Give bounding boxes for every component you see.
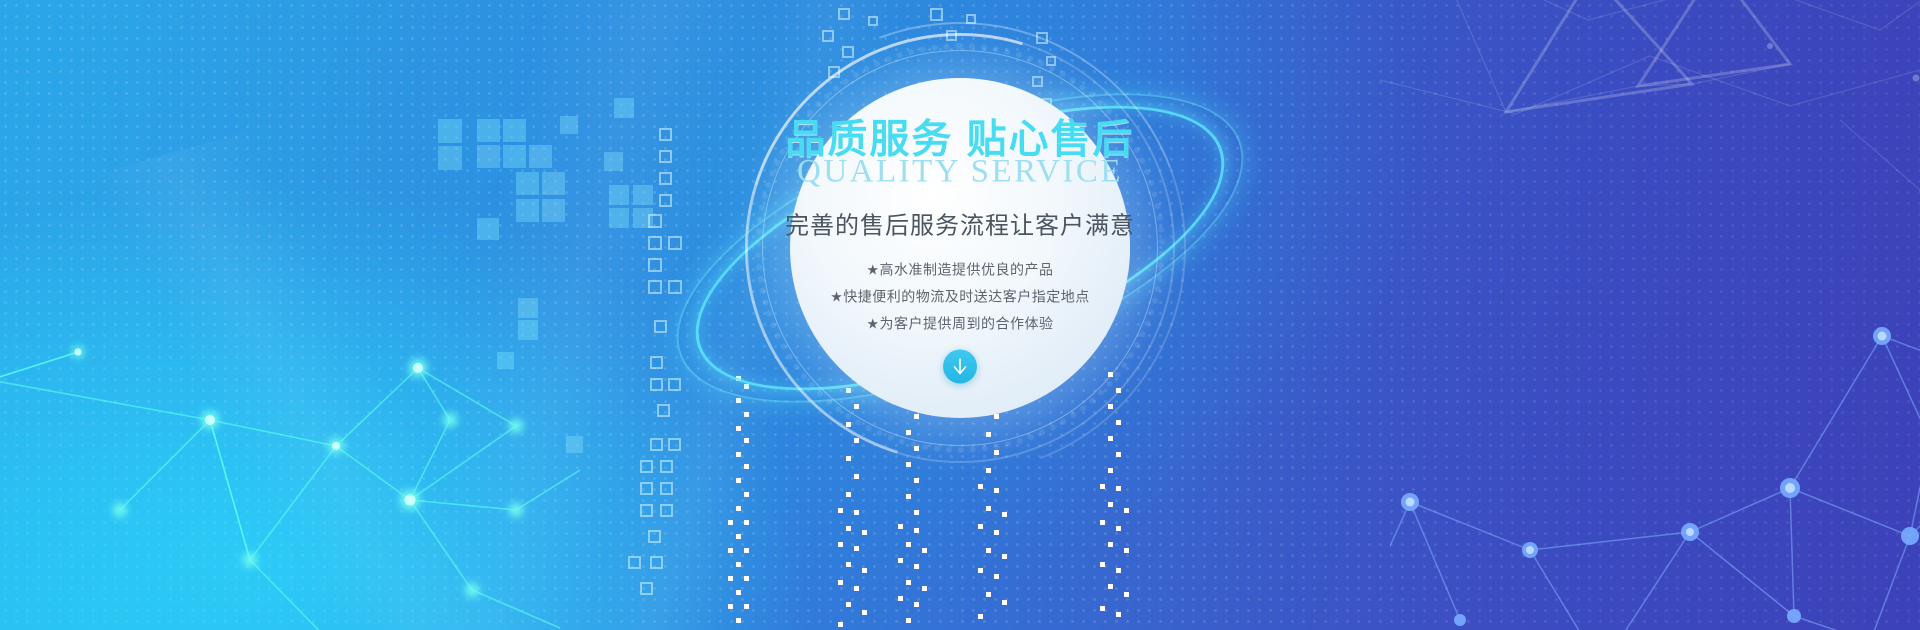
list-item: ★高水准制造提供优良的产品: [730, 257, 1190, 284]
right-vignette: [1160, 0, 1920, 630]
hero-disc: 品质服务 贴心售后 QUALITY SERVICE 完善的售后服务流程让客户满意…: [730, 18, 1190, 478]
arrow-down-icon: [952, 358, 968, 376]
network-constellation-bottom-right: [1390, 320, 1920, 630]
list-item: ★为客户提供周到的合作体验: [730, 311, 1190, 338]
hero-content: 品质服务 贴心售后 QUALITY SERVICE 完善的售后服务流程让客户满意…: [730, 112, 1190, 383]
triangle-network-top-right: [1320, 0, 1920, 300]
page-title-english: QUALITY SERVICE: [730, 156, 1190, 189]
list-item: ★快捷便利的物流及时送达客户指定地点: [730, 284, 1190, 311]
bottom-left-glow: [0, 210, 820, 630]
page-subtitle: 完善的售后服务流程让客户满意: [730, 206, 1190, 241]
network-constellation-bottom-left: [0, 260, 580, 630]
scroll-down-button[interactable]: [943, 350, 977, 384]
feature-list: ★高水准制造提供优良的产品 ★快捷便利的物流及时送达客户指定地点 ★为客户提供周…: [730, 257, 1190, 338]
hero-banner: 品质服务 贴心售后 QUALITY SERVICE 完善的售后服务流程让客户满意…: [0, 0, 1920, 630]
